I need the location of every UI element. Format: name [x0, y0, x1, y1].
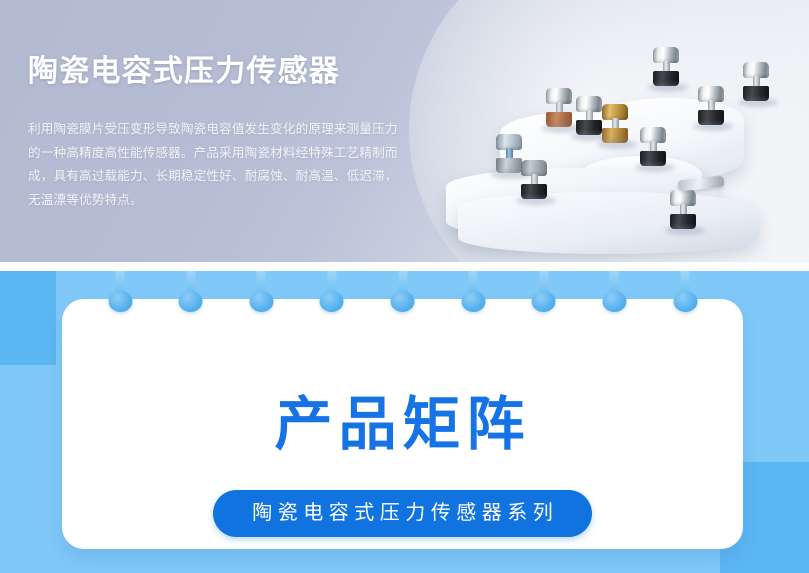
pedestal-base [458, 192, 758, 254]
binding-ring [610, 271, 619, 299]
binding-ring [539, 271, 548, 299]
hero-text-block: 陶瓷电容式压力传感器 利用陶瓷膜片受压变形导致陶瓷电容值发生变化的原理来测量压力… [28, 52, 398, 212]
notebook-binding-rings [62, 271, 743, 319]
sensor-unit [546, 88, 572, 127]
binding-ring [116, 271, 125, 299]
binding-ring [681, 271, 690, 299]
product-detail-page: 陶瓷电容式压力传感器 利用陶瓷膜片受压变形导致陶瓷电容值发生变化的原理来测量压力… [0, 0, 809, 573]
notebook-card: 产品矩阵 陶瓷电容式压力传感器系列 [62, 299, 743, 549]
product-matrix-section: 产品矩阵 陶瓷电容式压力传感器系列 [0, 271, 809, 573]
sensor-unit [698, 86, 724, 125]
binding-ring [327, 271, 336, 299]
sensor-unit [521, 160, 547, 199]
binding-ring [186, 271, 195, 299]
hero-description: 利用陶瓷膜片受压变形导致陶瓷电容值发生变化的原理来测量压力的一种高精度高性能传感… [28, 118, 398, 212]
binding-ring [257, 271, 266, 299]
matrix-subtitle-wrap: 陶瓷电容式压力传感器系列 [62, 490, 743, 537]
hero-product-photo [398, 0, 809, 262]
sensor-unit [576, 96, 602, 135]
matrix-subtitle-pill: 陶瓷电容式压力传感器系列 [213, 490, 593, 537]
sensor-unit [496, 134, 522, 173]
binding-ring [469, 271, 478, 299]
hero-banner: 陶瓷电容式压力传感器 利用陶瓷膜片受压变形导致陶瓷电容值发生变化的原理来测量压力… [0, 0, 809, 262]
sensor-unit [670, 190, 696, 229]
sensor-unit [653, 47, 679, 86]
sensor-unit [602, 104, 628, 143]
sensor-unit [743, 62, 769, 101]
matrix-title: 产品矩阵 [62, 394, 743, 456]
sensor-unit [640, 127, 666, 166]
section-divider [0, 262, 809, 271]
accent-block-top-left [0, 271, 56, 365]
hero-title: 陶瓷电容式压力传感器 [28, 52, 398, 92]
binding-ring [398, 271, 407, 299]
